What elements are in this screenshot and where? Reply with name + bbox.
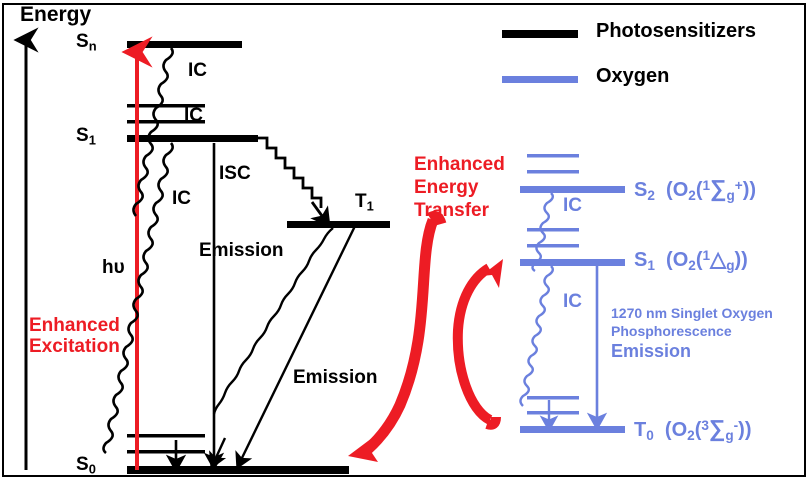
process-label-emission-fluorescence: Emission — [199, 241, 283, 262]
diagram-canvas — [0, 0, 810, 482]
oxygen-level-t0-vibrational-1 — [527, 396, 579, 400]
oxygen-level-t0-vibrational-2 — [527, 411, 579, 415]
oxygen-s1-term-close: )) — [735, 249, 748, 271]
ic-wavy-sn-to-s0 — [134, 48, 173, 216]
oxygen-t0-multiplicity: 3 — [701, 418, 709, 433]
energy-transfer-label-line2: Energy — [414, 178, 478, 199]
phosphorescence-caption-line2: Phosphorescence — [611, 324, 732, 339]
isc-wavy-s1-to-t1 — [258, 138, 325, 220]
state-label-sn: Sn — [76, 32, 97, 54]
photon-energy-label: hυ — [102, 258, 125, 279]
level-s1 — [127, 135, 258, 142]
energy-transfer-label-line3: Transfer — [414, 201, 489, 222]
energy-axis-label: Energy — [20, 4, 91, 27]
state-label-s1-sub: 1 — [89, 133, 96, 148]
phosphorescence-caption-line3: Emission — [611, 342, 691, 361]
oxygen-t0-term-sub: 2 — [687, 428, 695, 443]
oxygen-t0-term-close: )) — [738, 419, 751, 441]
energy-transfer-arrow-down — [348, 216, 441, 462]
level-s0 — [127, 466, 349, 474]
oxygen-s1-term-sub: 2 — [688, 258, 696, 273]
oxygen-t0-symbol: T — [634, 419, 646, 441]
state-label-t1: T1 — [355, 192, 374, 214]
oxygen-level-s1-vibrational-1 — [527, 228, 579, 232]
oxygen-level-t0 — [520, 426, 625, 433]
oxygen-ic-wavy-s1-to-t0 — [521, 266, 553, 424]
enhanced-excitation-label-line1: Enhanced — [29, 316, 120, 337]
state-label-s0-sub: 0 — [89, 462, 96, 477]
oxygen-s2-term-close: )) — [743, 179, 756, 201]
state-label-t1-text: T — [355, 191, 367, 212]
process-label-isc: ISC — [219, 164, 251, 185]
state-label-s1-text: S — [76, 125, 89, 146]
oxygen-s1-term-open: (O — [666, 249, 688, 271]
level-sn — [127, 41, 242, 48]
oxygen-s1-term-g: g — [726, 258, 734, 273]
process-label-emission-phosphorescence: Emission — [293, 368, 377, 389]
process-label-ic-3: IC — [172, 189, 191, 210]
state-label-sn-sub: n — [89, 39, 97, 54]
oxygen-t0-term-glyph: ∑ — [709, 415, 725, 441]
oxygen-s1-sub: 1 — [647, 258, 655, 273]
oxygen-s2-term-open: (O — [666, 179, 688, 201]
oxygen-s2-multiplicity: 1 — [702, 178, 710, 193]
jablonski-diagram-figure: Energy Photosensitizers Oxygen Sn S1 T1 … — [0, 0, 810, 482]
t1-wavy-to-s0 — [214, 228, 333, 462]
oxygen-s2-term-g: g — [726, 188, 734, 203]
legend-swatch-oxygen — [502, 76, 578, 83]
state-label-sn-text: S — [76, 31, 89, 52]
energy-transfer-arrow-up — [458, 259, 503, 425]
oxygen-state-label-s1: S1 (O2(1△g)) — [634, 249, 748, 274]
enhanced-excitation-label-line2: Excitation — [29, 337, 120, 358]
state-label-s1: S1 — [76, 126, 96, 148]
oxygen-s2-term-sub: 2 — [688, 188, 696, 203]
oxygen-state-label-t0: T0 (O2(3∑g-)) — [634, 416, 752, 443]
process-label-ic-1: IC — [188, 61, 207, 82]
legend-swatch-photosensitizers — [502, 30, 578, 38]
oxygen-process-label-ic-2: IC — [563, 292, 582, 313]
energy-transfer-label-line1: Enhanced — [414, 155, 505, 176]
oxygen-s1-term-glyph: △ — [710, 248, 726, 271]
oxygen-level-s1-vibrational-2 — [527, 244, 579, 248]
oxygen-level-s2-vibrational-2 — [527, 170, 579, 174]
process-label-ic-2: IC — [184, 106, 203, 127]
level-t1 — [287, 221, 390, 228]
oxygen-t0-term-g: g — [725, 428, 733, 443]
oxygen-t0-sub: 0 — [646, 428, 654, 443]
oxygen-level-s2 — [520, 186, 625, 193]
oxygen-s2-term-glyph: ∑ — [710, 175, 726, 201]
oxygen-s2-sub: 2 — [647, 188, 655, 203]
state-label-s0: S0 — [76, 455, 96, 477]
state-label-t1-sub: 1 — [367, 199, 374, 214]
legend-label-photosensitizers: Photosensitizers — [596, 21, 756, 43]
state-label-s0-text: S — [76, 454, 89, 475]
phosphorescence-caption-line1: 1270 nm Singlet Oxygen — [611, 306, 773, 321]
oxygen-s1-multiplicity: 1 — [702, 248, 710, 263]
oxygen-t0-term-open: (O — [665, 419, 687, 441]
legend-label-oxygen: Oxygen — [596, 66, 669, 88]
oxygen-s2-symbol: S — [634, 179, 647, 201]
oxygen-level-s2-vibrational-1 — [527, 154, 579, 158]
oxygen-s2-charge: + — [735, 178, 743, 193]
oxygen-process-label-ic-1: IC — [563, 196, 582, 217]
oxygen-s1-symbol: S — [634, 249, 647, 271]
oxygen-state-label-s2: S2 (O2(1∑g+)) — [634, 176, 756, 203]
